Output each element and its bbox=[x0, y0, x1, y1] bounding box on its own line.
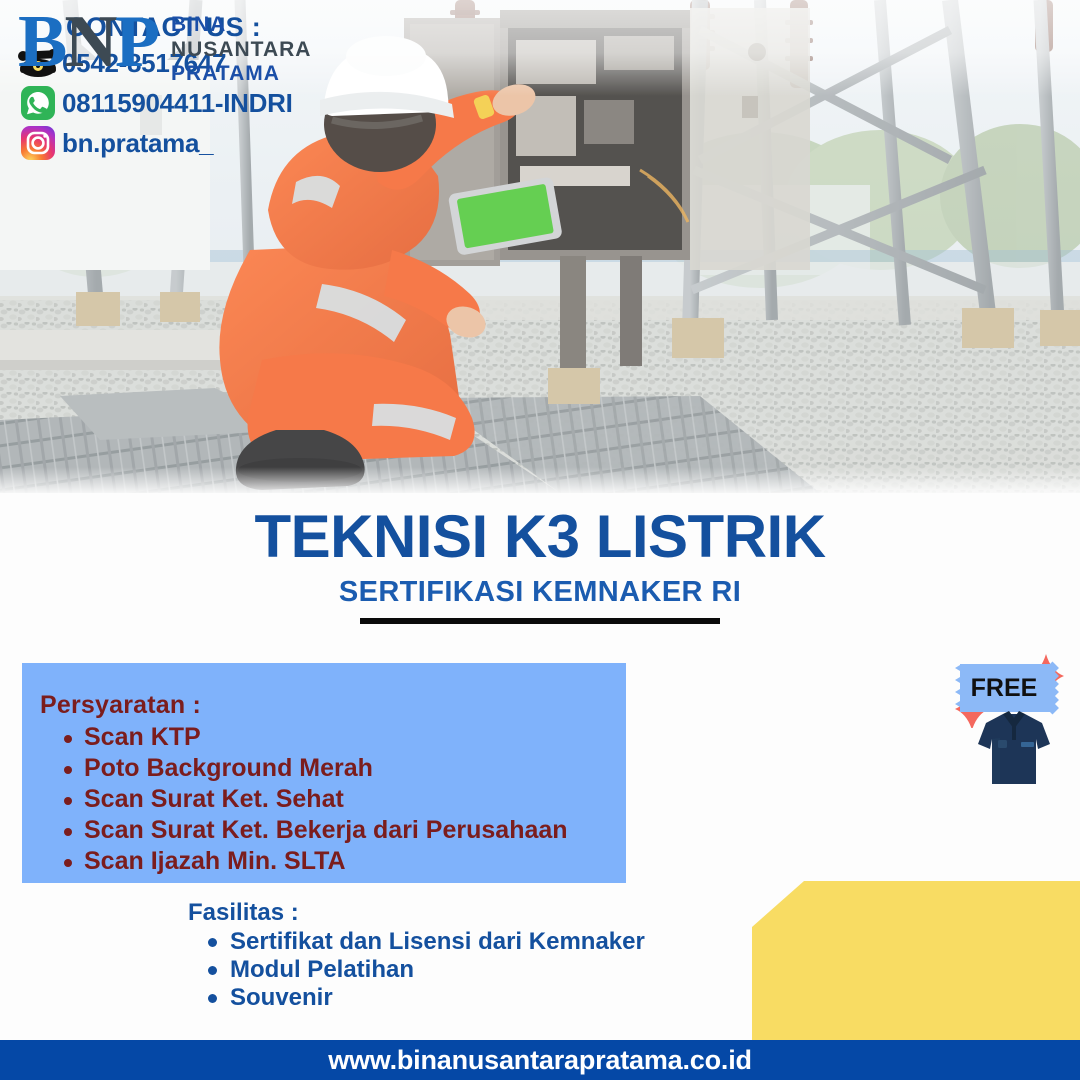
bullet-icon bbox=[64, 828, 72, 836]
monogram-letter-n: N bbox=[64, 1, 114, 83]
bullet-icon bbox=[64, 735, 72, 743]
requirement-label: Scan KTP bbox=[84, 723, 201, 751]
free-gift-group: FREE bbox=[950, 650, 1074, 792]
requirement-label: Scan Surat Ket. Sehat bbox=[84, 785, 344, 813]
facilities-block: Fasilitas : Sertifikat dan Lisensi dari … bbox=[188, 898, 645, 1011]
bullet-icon bbox=[64, 766, 72, 774]
list-item: Scan Surat Ket. Sehat bbox=[40, 786, 626, 813]
requirements-list: Scan KTP Poto Background Merah Scan Sura… bbox=[40, 724, 626, 875]
bullet-icon bbox=[64, 797, 72, 805]
footer-bar: www.binanusantarapratama.co.id bbox=[0, 1040, 1080, 1080]
facility-label: Souvenir bbox=[230, 984, 333, 1011]
requirement-label: Poto Background Merah bbox=[84, 754, 373, 782]
brand-logo: BNP BINA NUSANTARA PRATAMA bbox=[18, 4, 311, 87]
polo-shirt-icon bbox=[976, 708, 1052, 790]
contact-row-whatsapp[interactable]: 08115904411-INDRI bbox=[14, 84, 326, 122]
list-item: Scan Ijazah Min. SLTA bbox=[40, 848, 626, 875]
bullet-icon bbox=[208, 966, 217, 975]
requirements-heading: Persyaratan : bbox=[40, 690, 626, 720]
bnp-monogram: BNP bbox=[18, 4, 157, 80]
poster-root: BNP BINA NUSANTARA PRATAMA TEKNISI K3 LI… bbox=[0, 0, 1080, 1080]
brand-wordmark: BINA NUSANTARA PRATAMA bbox=[171, 13, 311, 87]
contact-row-instagram[interactable]: bn.pratama_ bbox=[14, 124, 326, 162]
list-item: Modul Pelatihan bbox=[188, 956, 645, 983]
bullet-icon bbox=[208, 994, 217, 1003]
monogram-letter-p: P bbox=[115, 1, 157, 83]
requirements-box: Persyaratan : Scan KTP Poto Background M… bbox=[22, 663, 626, 883]
brand-line-1: BINA bbox=[171, 13, 311, 38]
free-label: FREE bbox=[971, 674, 1038, 702]
bullet-icon bbox=[64, 859, 72, 867]
shirt-wordmark bbox=[1021, 742, 1034, 747]
contact-instagram-value: bn.pratama_ bbox=[62, 128, 213, 159]
facility-label: Sertifikat dan Lisensi dari Kemnaker bbox=[230, 928, 645, 955]
website-url[interactable]: www.binanusantarapratama.co.id bbox=[328, 1045, 752, 1076]
facilities-heading: Fasilitas : bbox=[188, 898, 645, 927]
list-item: Scan Surat Ket. Bekerja dari Perusahaan bbox=[40, 817, 626, 844]
instagram-icon bbox=[14, 124, 62, 162]
contact-whatsapp-value: 08115904411-INDRI bbox=[62, 88, 293, 119]
contact-panel bbox=[752, 881, 1080, 1040]
bullet-icon bbox=[208, 938, 217, 947]
page-title: TEKNISI K3 LISTRIK bbox=[0, 505, 1080, 569]
brand-line-2: NUSANTARA bbox=[171, 38, 311, 63]
list-item: Sertifikat dan Lisensi dari Kemnaker bbox=[188, 928, 645, 955]
monogram-letter-b: B bbox=[18, 1, 64, 83]
whatsapp-icon bbox=[14, 84, 62, 122]
title-underline bbox=[360, 618, 720, 624]
title-block: TEKNISI K3 LISTRIK SERTIFIKASI KEMNAKER … bbox=[0, 505, 1080, 624]
shirt-badge bbox=[998, 740, 1007, 748]
list-item: Scan KTP bbox=[40, 724, 626, 751]
list-item: Souvenir bbox=[188, 984, 645, 1011]
brand-line-3: PRATAMA bbox=[171, 62, 311, 87]
page-subtitle: SERTIFIKASI KEMNAKER RI bbox=[0, 575, 1080, 609]
facilities-list: Sertifikat dan Lisensi dari Kemnaker Mod… bbox=[188, 928, 645, 1011]
ticket-edge bbox=[1050, 664, 1054, 712]
requirement-label: Scan Ijazah Min. SLTA bbox=[84, 847, 346, 875]
facility-label: Modul Pelatihan bbox=[230, 956, 414, 983]
requirement-label: Scan Surat Ket. Bekerja dari Perusahaan bbox=[84, 816, 568, 844]
list-item: Poto Background Merah bbox=[40, 755, 626, 782]
